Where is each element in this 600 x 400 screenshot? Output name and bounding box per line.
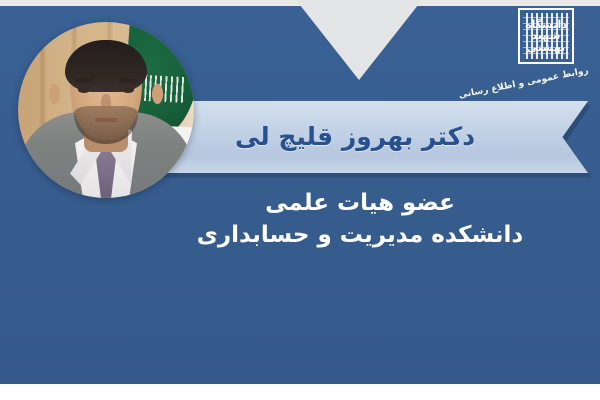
position-line-2: دانشکده مدیریت و حسابداری (150, 220, 570, 250)
bottom-white-strip (0, 384, 600, 400)
nose (101, 94, 111, 114)
portrait-photo-icon (18, 22, 194, 198)
position-block: عضو هیات علمی دانشکده مدیریت و حسابداری (150, 188, 570, 251)
flag-emblem-icon (141, 75, 188, 103)
ear-left (49, 84, 60, 104)
person-name: دکتر بهروز قلیچ لی (235, 122, 501, 153)
profile-card: دانشگاه شهید بهشتی روابط عمومی و اطلاع ر… (0, 0, 600, 400)
eye-right (122, 87, 134, 93)
name-ribbon-banner: دکتر بهروز قلیچ لی (148, 101, 588, 173)
eye-left (78, 87, 90, 93)
logo-mark-text: دانشگاه شهید بهشتی (523, 13, 569, 59)
portrait-inner (18, 22, 194, 198)
logo-square-frame: دانشگاه شهید بهشتی (518, 8, 574, 64)
position-line-1: عضو هیات علمی (150, 188, 570, 218)
mouth (95, 118, 117, 122)
ear-right (152, 84, 163, 104)
university-logo-icon: دانشگاه شهید بهشتی روابط عمومی و اطلاع ر… (492, 6, 588, 92)
